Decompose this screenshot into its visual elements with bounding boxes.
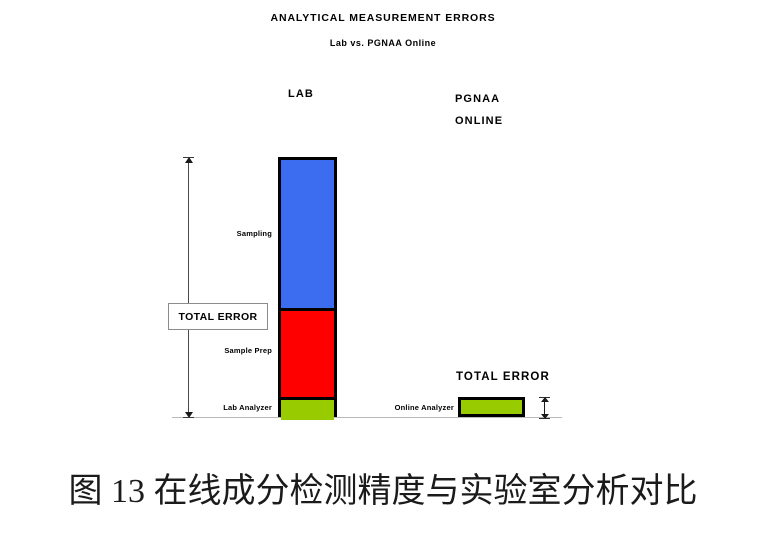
- total-error-bracket: [183, 157, 194, 418]
- column-header-lab: LAB: [288, 88, 314, 100]
- measure-tick-bottom: [539, 418, 550, 419]
- column-header-pgnaa-line1: PGNAA: [455, 88, 503, 110]
- baseline-rule: [172, 417, 562, 418]
- arrow-up-icon: [185, 157, 193, 163]
- bar-segment-sample-prep: [281, 311, 334, 400]
- bracket-tick-bottom: [183, 417, 194, 418]
- bar-online-analyzer: [458, 397, 525, 417]
- chart-title: ANALYTICAL MEASUREMENT ERRORS: [0, 12, 766, 24]
- label-sample-prep: Sample Prep: [176, 346, 272, 355]
- bar-segment-sampling: [281, 160, 334, 311]
- bar-segment-lab-analyzer: [281, 400, 334, 420]
- figure-analytical-measurement-errors: ANALYTICAL MEASUREMENT ERRORS Lab vs. PG…: [0, 0, 766, 541]
- total-error-label-online: TOTAL ERROR: [456, 371, 550, 383]
- online-total-error-measure: [539, 397, 550, 419]
- chart-subtitle: Lab vs. PGNAA Online: [0, 38, 766, 48]
- arrow-up-icon: [541, 397, 549, 402]
- figure-caption: 图 13 在线成分检测精度与实验室分析对比: [0, 463, 766, 512]
- bar-lab-stacked: [278, 157, 337, 417]
- column-header-pgnaa-online: PGNAA ONLINE: [455, 88, 503, 132]
- bracket-line: [188, 161, 189, 414]
- label-sampling: Sampling: [176, 229, 272, 238]
- label-lab-analyzer: Lab Analyzer: [176, 403, 272, 412]
- total-error-callout-box: TOTAL ERROR: [168, 303, 268, 330]
- label-online-analyzer: Online Analyzer: [358, 403, 454, 412]
- total-error-callout-label: TOTAL ERROR: [178, 311, 257, 323]
- column-header-pgnaa-line2: ONLINE: [455, 110, 503, 132]
